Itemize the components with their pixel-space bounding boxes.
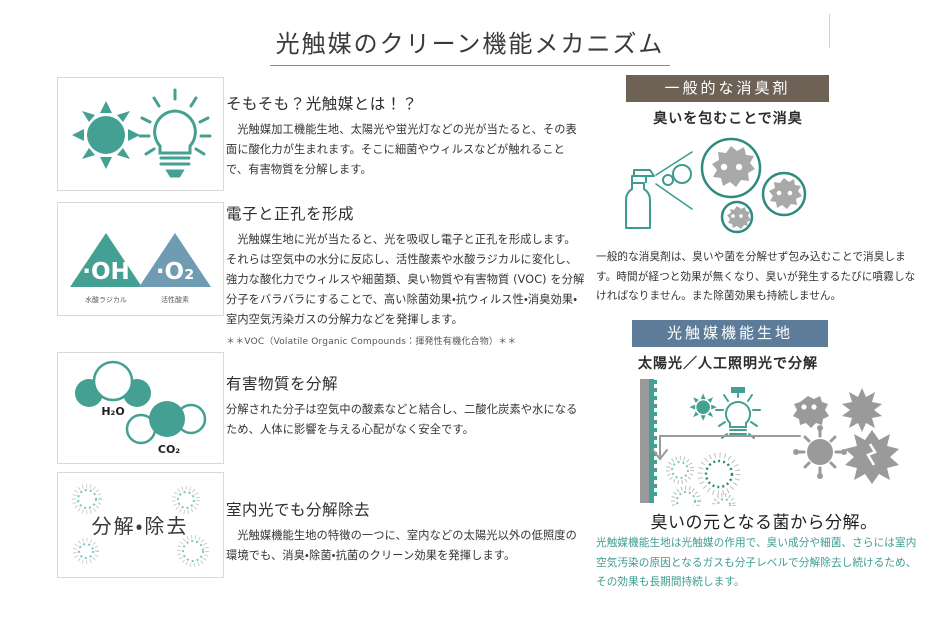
- panel-subtitle-photocatalyst-fabric: 太陽光／人工照明光で分解: [596, 353, 860, 373]
- voc-footnote: ＊＊VOC（Volatile Organic Compounds：揮発性有機化合…: [226, 334, 586, 347]
- section-body-3: 分解された分子は空気中の酸素などと結合し、二酸化炭素や水になるため、人体に影響を…: [226, 400, 586, 440]
- section-text-2: 電子と正孔を形成 光触媒生地に光が当たると、光を吸収し電子と正孔を形成します。そ…: [226, 202, 586, 347]
- page-title: 光触媒のクリーン機能メカニズム: [0, 24, 940, 66]
- section-heading-2: 電子と正孔を形成: [226, 202, 586, 224]
- sun-and-lightbulb-illustration: [58, 78, 223, 190]
- fabric-illustration-wrap: [612, 374, 924, 506]
- icon-box-decompose-remove: 分解・除去: [57, 472, 224, 578]
- photocatalyst-fabric-decomposing-germs-illustration: [612, 374, 924, 506]
- panel-subtitle-general-deodorant: 臭いを包むことで消臭: [596, 108, 860, 128]
- panel-body-general-deodorant: 一般的な消臭剤は、臭いや菌を分解せず包み込むことで消臭します。時間が経つと効果が…: [596, 248, 926, 307]
- section-heading-1: そもそも？光触媒とは！？: [226, 92, 586, 114]
- section-body-1: 光触媒加工機能生地、太陽光や蛍光灯などの光が当たると、その表面に酸化力が生まれま…: [226, 120, 586, 180]
- decompose-remove-label: 分解・除去: [92, 514, 189, 538]
- molecule-label-co2: CO₂: [158, 443, 180, 456]
- title-divider: [829, 14, 830, 48]
- spray-illustration-wrap: [604, 128, 924, 240]
- section-body-4: 光触媒機能生地の特徴の一つに、室内などの太陽光以外の低照度の環境でも、消臭・除菌…: [226, 526, 586, 566]
- icon-box-radicals: ·OH ·O₂ 水酸ラジカル 活性酸素: [57, 202, 224, 316]
- section-body-2: 光触媒生地に光が当たると、光を吸収し電子と正孔を形成します。それらは空気中の水分…: [226, 230, 586, 330]
- decompose-remove-illustration: 分解・除去: [58, 473, 223, 577]
- panel-header-photocatalyst-fabric: 光触媒機能生地: [632, 320, 828, 347]
- panel-header-general-deodorant: 一般的な消臭剤: [626, 75, 829, 102]
- molecule-label-h2o: H₂O: [101, 405, 124, 418]
- page-title-text: 光触媒のクリーン機能メカニズム: [270, 24, 671, 66]
- section-heading-4: 室内光でも分解除去: [226, 498, 586, 520]
- panel-body-photocatalyst-fabric: 光触媒機能生地は光触媒の作用で、臭い成分や細菌、さらには室内空気汚染の原因となる…: [596, 534, 926, 593]
- radical-label-o2: 活性酸素: [161, 295, 189, 304]
- water-and-carbon-dioxide-molecules-illustration: H₂O CO₂: [58, 353, 223, 463]
- icon-box-sun-lightbulb: [57, 77, 224, 191]
- svg-text:·O₂: ·O₂: [156, 259, 194, 285]
- icon-box-molecules: H₂O CO₂: [57, 352, 224, 464]
- svg-text:·OH: ·OH: [82, 259, 130, 285]
- spray-bottle-encapsulating-germs-illustration: [604, 128, 924, 240]
- section-text-1: そもそも？光触媒とは！？ 光触媒加工機能生地、太陽光や蛍光灯などの光が当たると、…: [226, 92, 586, 180]
- radical-label-oh: 水酸ラジカル: [85, 295, 127, 304]
- panel-big-heading-photocatalyst: 臭いの元となる菌から分解。: [596, 508, 932, 533]
- section-heading-3: 有害物質を分解: [226, 372, 586, 394]
- infographic-page: 光触媒のクリーン機能メカニズム: [0, 0, 940, 627]
- section-text-4: 室内光でも分解除去 光触媒機能生地の特徴の一つに、室内などの太陽光以外の低照度の…: [226, 498, 586, 566]
- section-text-3: 有害物質を分解 分解された分子は空気中の酸素などと結合し、二酸化炭素や水になるた…: [226, 372, 586, 440]
- radical-triangles-illustration: ·OH ·O₂ 水酸ラジカル 活性酸素: [58, 203, 223, 315]
